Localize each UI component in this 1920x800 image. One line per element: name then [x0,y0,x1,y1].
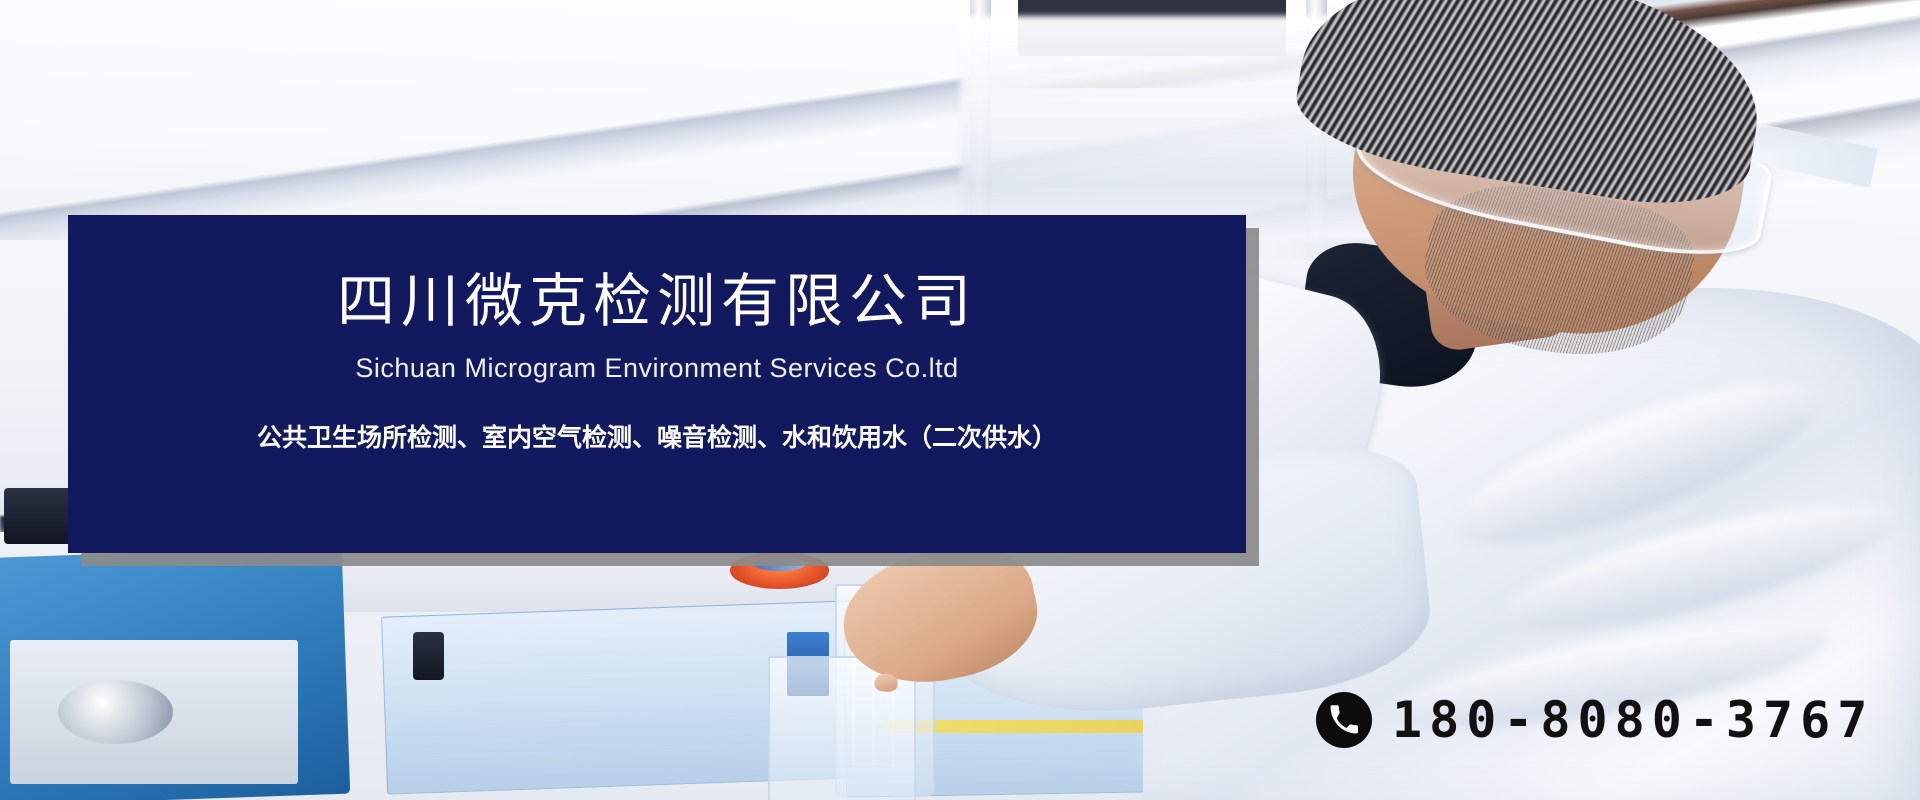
services-list: 公共卫生场所检测、室内空气检测、噪音检测、水和饮用水（二次供水） [257,426,1057,451]
text-panel: 四川微克检测有限公司 Sichuan Microgram Environment… [68,215,1246,553]
instrument-knob [58,680,173,744]
thumb [874,673,898,692]
phone-icon[interactable] [1316,692,1372,748]
bench-clamp-right [413,632,444,680]
company-name-cn: 四川微克检测有限公司 [337,273,977,331]
company-name-en: Sichuan Microgram Environment Services C… [355,355,958,382]
phone-number[interactable]: 180-8080-3767 [1392,695,1874,745]
hero-banner: 四川微克检测有限公司 Sichuan Microgram Environment… [0,0,1920,800]
contact-phone[interactable]: 180-8080-3767 [1316,692,1874,748]
